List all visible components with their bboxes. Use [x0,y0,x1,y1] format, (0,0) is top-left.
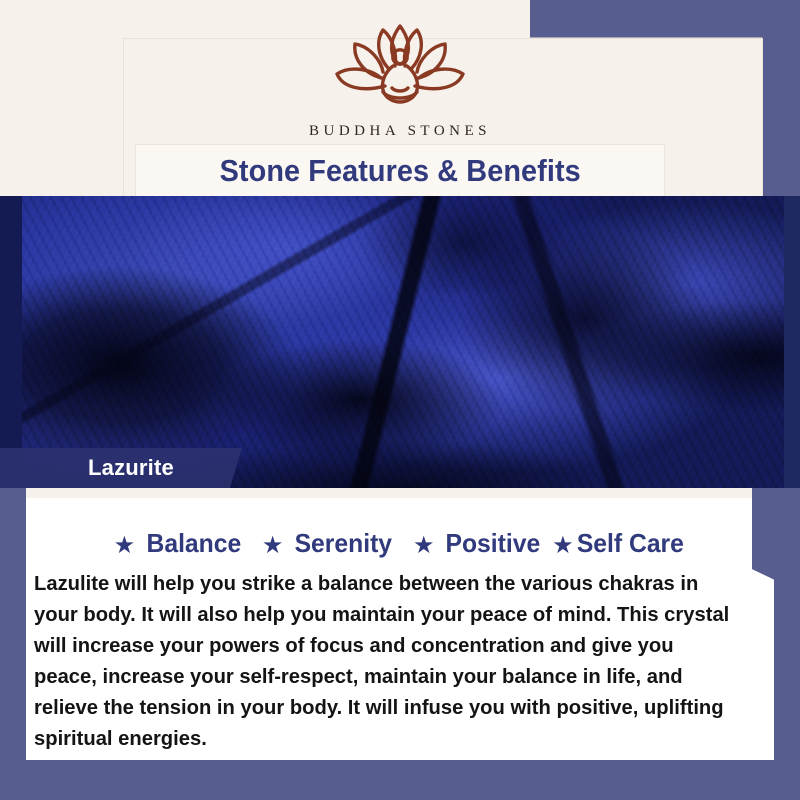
photo-edge-right [784,196,800,488]
page-title: Stone Features & Benefits [219,153,580,189]
feature-keyword-1: Serenity [295,528,392,559]
brand-name: BUDDHA STONES [0,123,800,140]
stone-info-poster: BUDDHA STONES Stone Features & Benefits … [0,0,800,800]
star-icon: ★ [262,531,284,560]
star-icon: ★ [552,531,574,560]
photo-grain-layer [0,196,800,488]
feature-keyword-2: Positive [446,528,541,559]
feature-keyword-0: Balance [147,528,242,559]
page-title-band: Stone Features & Benefits [136,145,664,197]
photo-edge-left [0,196,22,488]
stone-name: Lazurite [0,455,174,481]
star-icon: ★ [413,531,435,560]
stone-photo [0,196,800,488]
lotus-meditation-figure-icon [0,16,800,121]
feature-keyword-list: ★Balance★Serenity★Positive★Self Care [26,528,774,560]
brand-logo: BUDDHA STONES [0,16,800,140]
stone-name-banner: Lazurite [0,448,242,488]
feature-keyword-3: Self Care [577,528,684,559]
star-icon: ★ [114,531,136,560]
stone-description: Lazulite will help you strike a balance … [34,568,729,754]
